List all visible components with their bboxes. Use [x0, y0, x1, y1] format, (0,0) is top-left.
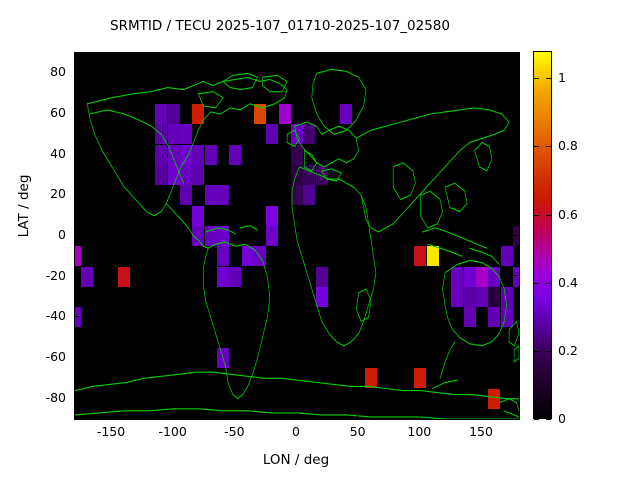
heatmap-cell — [476, 267, 488, 287]
colorbar-tickmark-right — [546, 283, 551, 284]
heatmap-cell — [180, 185, 192, 205]
heatmap-cell — [168, 124, 180, 144]
heatmap-cell — [254, 246, 266, 266]
heatmap-cell — [451, 287, 463, 307]
y-tick-label: 60 — [24, 105, 66, 120]
colorbar-tickmark — [534, 419, 539, 420]
heatmap-cell — [414, 368, 426, 388]
heatmap-cell — [316, 287, 328, 307]
heatmap-cell — [155, 165, 167, 185]
heatmap-cell — [291, 185, 303, 205]
x-tick-label: -100 — [143, 424, 203, 439]
heatmap-cell — [229, 145, 241, 165]
colorbar[interactable] — [533, 51, 552, 419]
y-tick-label: -60 — [24, 349, 66, 364]
x-tick-label: 50 — [328, 424, 388, 439]
y-tickmark — [75, 275, 80, 276]
heatmap-cell — [192, 104, 204, 124]
y-tickmark — [75, 113, 80, 114]
heatmap-cell — [205, 226, 217, 246]
x-tickmark — [234, 413, 235, 418]
heatmap-cell — [513, 226, 520, 246]
heatmap-cell — [501, 287, 513, 307]
x-tickmark-top — [172, 53, 173, 58]
heatmap-cell — [118, 267, 130, 287]
heatmap-cells-layer — [75, 53, 519, 419]
heatmap-cell — [488, 307, 500, 327]
y-tickmark-right — [513, 194, 518, 195]
heatmap-cell — [266, 226, 278, 246]
y-tick-label: -80 — [24, 390, 66, 405]
heatmap-cell — [242, 246, 254, 266]
heatmap-cell — [74, 246, 81, 266]
colorbar-tick-label: 0.6 — [558, 207, 578, 222]
colorbar-tickmark-right — [546, 351, 551, 352]
y-tickmark — [75, 194, 80, 195]
colorbar-tickmark-right — [546, 419, 551, 420]
heatmap-cell — [476, 287, 488, 307]
heatmap-cell — [155, 124, 167, 144]
heatmap-cell — [303, 185, 315, 205]
x-tickmark — [357, 413, 358, 418]
colorbar-tickmark-right — [546, 146, 551, 147]
figure-canvas: SRMTID / TECU 2025-107_01710-2025-107_02… — [0, 0, 640, 480]
colorbar-tickmark-right — [546, 215, 551, 216]
heatmap-cell — [168, 145, 180, 165]
x-tickmark-top — [357, 53, 358, 58]
y-tickmark — [75, 316, 80, 317]
y-tick-label: 80 — [24, 64, 66, 79]
colorbar-tick-label: 0.2 — [558, 343, 578, 358]
y-tickmark — [75, 72, 80, 73]
x-axis-label: LON / deg — [74, 452, 518, 468]
heatmap-cell — [464, 287, 476, 307]
heatmap-cell — [81, 267, 93, 287]
chart-title: SRMTID / TECU 2025-107_01710-2025-107_02… — [0, 18, 560, 34]
heatmap-cell — [192, 165, 204, 185]
x-tickmark-top — [481, 53, 482, 58]
heatmap-cell — [155, 104, 167, 124]
x-tickmark-top — [111, 53, 112, 58]
y-tickmark — [75, 153, 80, 154]
y-tickmark-right — [513, 72, 518, 73]
heatmap-cell — [464, 307, 476, 327]
y-tickmark-right — [513, 275, 518, 276]
heatmap-cell — [217, 348, 229, 368]
heatmap-cell — [192, 145, 204, 165]
heatmap-cell — [291, 124, 303, 144]
x-tickmark-top — [419, 53, 420, 58]
heatmap-cell — [205, 145, 217, 165]
heatmap-cell — [217, 185, 229, 205]
heatmap-cell — [488, 267, 500, 287]
x-tickmark-top — [296, 53, 297, 58]
map-plot-area[interactable] — [74, 52, 520, 420]
heatmap-cell — [451, 267, 463, 287]
heatmap-cell — [291, 145, 303, 165]
heatmap-cell — [180, 145, 192, 165]
colorbar-tickmark — [534, 78, 539, 79]
colorbar-tickmark — [534, 351, 539, 352]
heatmap-cell — [168, 104, 180, 124]
colorbar-tickmark — [534, 146, 539, 147]
heatmap-cell — [513, 267, 520, 287]
x-tickmark — [419, 413, 420, 418]
colorbar-tickmark — [534, 215, 539, 216]
y-tickmark — [75, 357, 80, 358]
heatmap-cell — [192, 226, 204, 246]
heatmap-cell — [168, 165, 180, 185]
heatmap-cell — [229, 267, 241, 287]
x-tick-label: 100 — [389, 424, 449, 439]
y-tickmark-right — [513, 357, 518, 358]
heatmap-cell — [427, 246, 439, 266]
y-tickmark-right — [513, 316, 518, 317]
heatmap-cell — [488, 287, 500, 307]
x-tick-label: -150 — [81, 424, 141, 439]
colorbar-tickmark-right — [546, 78, 551, 79]
heatmap-cell — [316, 165, 328, 185]
heatmap-cell — [266, 124, 278, 144]
colorbar-tickmark — [534, 283, 539, 284]
x-tickmark — [296, 413, 297, 418]
heatmap-cell — [291, 165, 303, 185]
heatmap-cell — [217, 226, 229, 246]
heatmap-cell — [192, 206, 204, 226]
y-tick-label: 20 — [24, 186, 66, 201]
y-tick-label: 0 — [24, 227, 66, 242]
heatmap-cell — [303, 165, 315, 185]
heatmap-cell — [180, 165, 192, 185]
x-tick-label: -50 — [204, 424, 264, 439]
heatmap-cell — [205, 185, 217, 205]
y-tick-label: -40 — [24, 308, 66, 323]
x-tick-label: 150 — [451, 424, 511, 439]
colorbar-tick-label: 0.8 — [558, 138, 578, 153]
y-tickmark-right — [513, 113, 518, 114]
heatmap-cell — [488, 389, 500, 409]
heatmap-cell — [217, 246, 229, 266]
x-tickmark — [481, 413, 482, 418]
heatmap-cell — [501, 307, 513, 327]
y-tickmark-right — [513, 235, 518, 236]
x-tick-label: 0 — [266, 424, 326, 439]
heatmap-cell — [180, 124, 192, 144]
y-tick-label: -20 — [24, 268, 66, 283]
y-tick-label: 40 — [24, 146, 66, 161]
heatmap-cell — [414, 246, 426, 266]
x-tickmark — [111, 413, 112, 418]
heatmap-cell — [254, 104, 266, 124]
heatmap-cell — [266, 206, 278, 226]
x-tickmark — [172, 413, 173, 418]
x-tickmark-top — [234, 53, 235, 58]
colorbar-gradient — [533, 51, 552, 419]
colorbar-tick-label: 0 — [558, 411, 566, 426]
y-tickmark — [75, 235, 80, 236]
heatmap-cell — [155, 145, 167, 165]
heatmap-cell — [501, 246, 513, 266]
heatmap-cell — [217, 267, 229, 287]
y-tickmark — [75, 397, 80, 398]
y-tickmark-right — [513, 397, 518, 398]
heatmap-cell — [464, 267, 476, 287]
y-tickmark-right — [513, 153, 518, 154]
heatmap-cell — [279, 104, 291, 124]
heatmap-cell — [303, 124, 315, 144]
colorbar-tick-label: 0.4 — [558, 275, 578, 290]
colorbar-tick-label: 1 — [558, 70, 566, 85]
heatmap-cell — [74, 307, 81, 327]
heatmap-cell — [340, 104, 352, 124]
y-axis-label: LAT / deg — [16, 146, 32, 266]
heatmap-cell — [365, 368, 377, 388]
heatmap-cell — [316, 267, 328, 287]
